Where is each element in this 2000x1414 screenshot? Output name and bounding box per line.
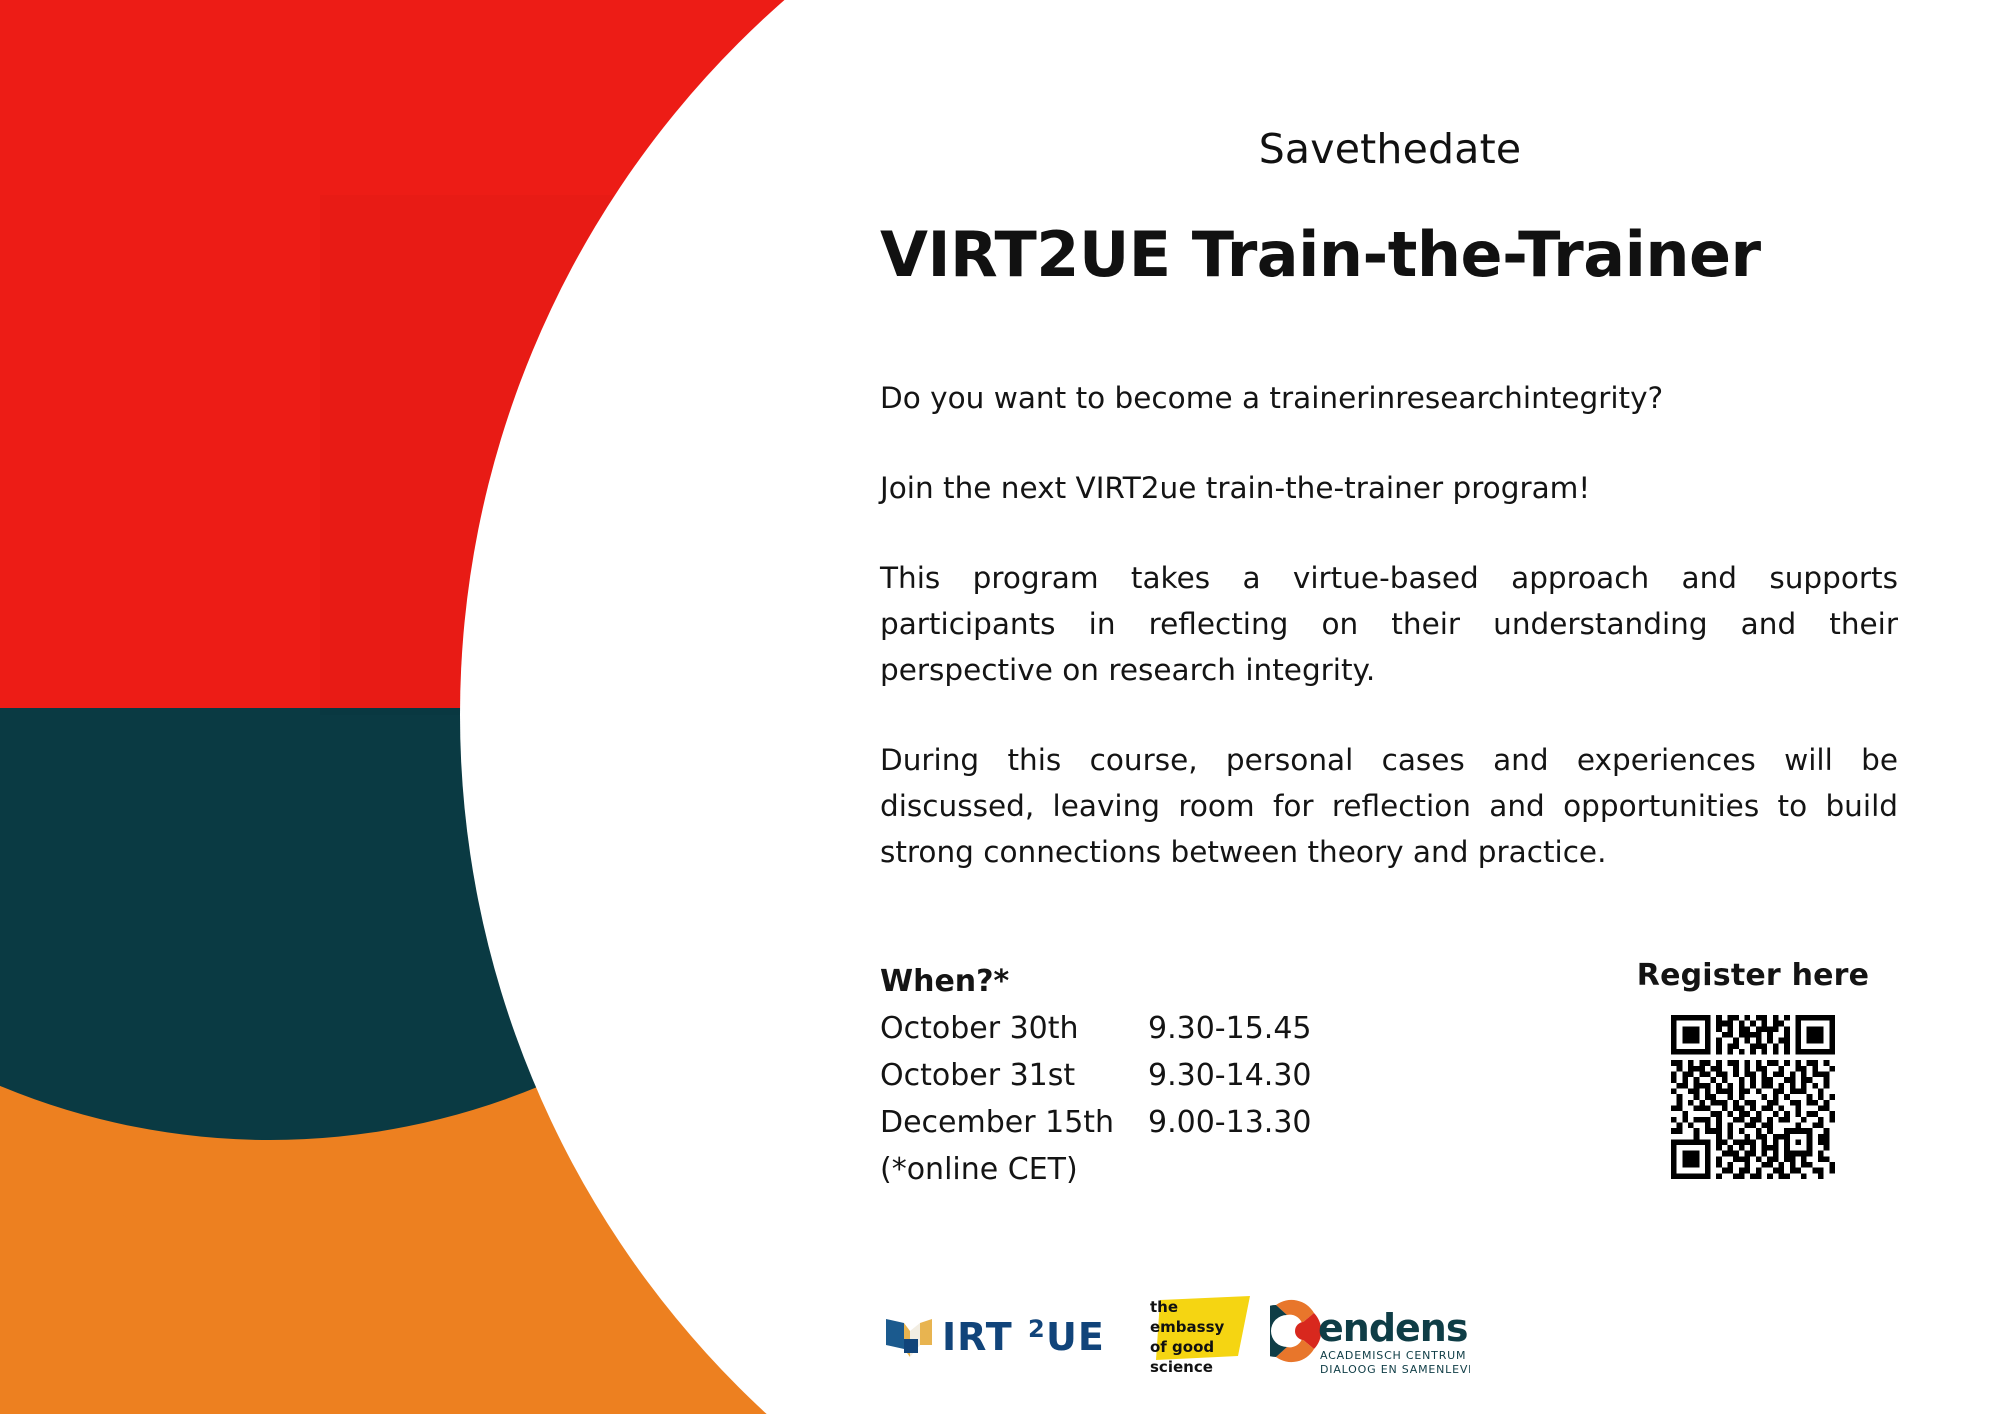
virt2ue-v-mark [886, 1319, 932, 1357]
register-block: Register here [1588, 958, 1918, 1179]
paragraph-invitation: Join the next VIRT2ue train-the-trainer … [880, 465, 1898, 511]
schedule-heading: When?* [880, 958, 1312, 1005]
logo-the-embassy-of-good-science: the embassy of good science [1146, 1294, 1254, 1378]
xendens-tagline-line-1: ACADEMISCH CENTRUM VOOR [1320, 1349, 1470, 1362]
schedule-time: 9.00-13.30 [1148, 1099, 1312, 1146]
xendens-x-mark [1270, 1300, 1321, 1362]
register-heading: Register here [1588, 958, 1918, 993]
logo-strip: IRT 2 UE the embassy of good science [880, 1288, 1400, 1384]
embassy-line-1: the [1150, 1298, 1178, 1316]
virt2ue-logo-icon: IRT 2 UE [880, 1305, 1130, 1367]
xendens-logo-icon: endens ACADEMISCH CENTRUM VOOR DIALOOG E… [1270, 1293, 1470, 1379]
virt2ue-wordmark: IRT [942, 1315, 1013, 1359]
qr-code-icon[interactable] [1671, 1015, 1835, 1179]
logo-virt2ue: IRT 2 UE [880, 1305, 1130, 1367]
xendens-tagline-line-2: DIALOOG EN SAMENLEVING [1320, 1363, 1470, 1376]
qr-code-holder [1588, 1015, 1918, 1179]
embassy-line-3: of good [1150, 1338, 1214, 1356]
schedule-time: 9.30-14.30 [1148, 1052, 1312, 1099]
schedule-date: October 30th [880, 1005, 1148, 1052]
schedule-block: When?* October 30th 9.30-15.45 October 3… [880, 958, 1312, 1193]
paragraph-course-description: During this course, personal cases and e… [880, 737, 1898, 875]
schedule-row: October 31st 9.30-14.30 [880, 1052, 1312, 1099]
schedule-row: October 30th 9.30-15.45 [880, 1005, 1312, 1052]
body-copy: Do you want to become a trainerinresearc… [880, 375, 1898, 919]
schedule-date: October 31st [880, 1052, 1148, 1099]
eyebrow-save-the-date: Savethedate [880, 125, 1900, 173]
embassy-line-4: science [1150, 1358, 1213, 1376]
logo-xendens: endens ACADEMISCH CENTRUM VOOR DIALOOG E… [1270, 1293, 1470, 1379]
schedule-time: 9.30-15.45 [1148, 1005, 1312, 1052]
page-title: VIRT2UE Train-the-Trainer [880, 218, 1910, 291]
save-the-date-poster: Savethedate VIRT2UE Train-the-Trainer Do… [0, 0, 2000, 1414]
embassy-logo-icon: the embassy of good science [1146, 1294, 1254, 1378]
paragraph-question: Do you want to become a trainerinresearc… [880, 375, 1898, 421]
schedule-row: December 15th 9.00-13.30 [880, 1099, 1312, 1146]
schedule-date: December 15th [880, 1099, 1148, 1146]
virt2ue-wordmark-ue: UE [1046, 1315, 1105, 1359]
schedule-footnote: (*online CET) [880, 1146, 1312, 1193]
virt2ue-superscript-two: 2 [1028, 1315, 1045, 1343]
embassy-line-2: embassy [1150, 1318, 1225, 1336]
paragraph-program-description: This program takes a virtue-based approa… [880, 555, 1898, 693]
poster-content: Savethedate VIRT2UE Train-the-Trainer Do… [0, 0, 2000, 1414]
xendens-wordmark: endens [1318, 1306, 1467, 1350]
